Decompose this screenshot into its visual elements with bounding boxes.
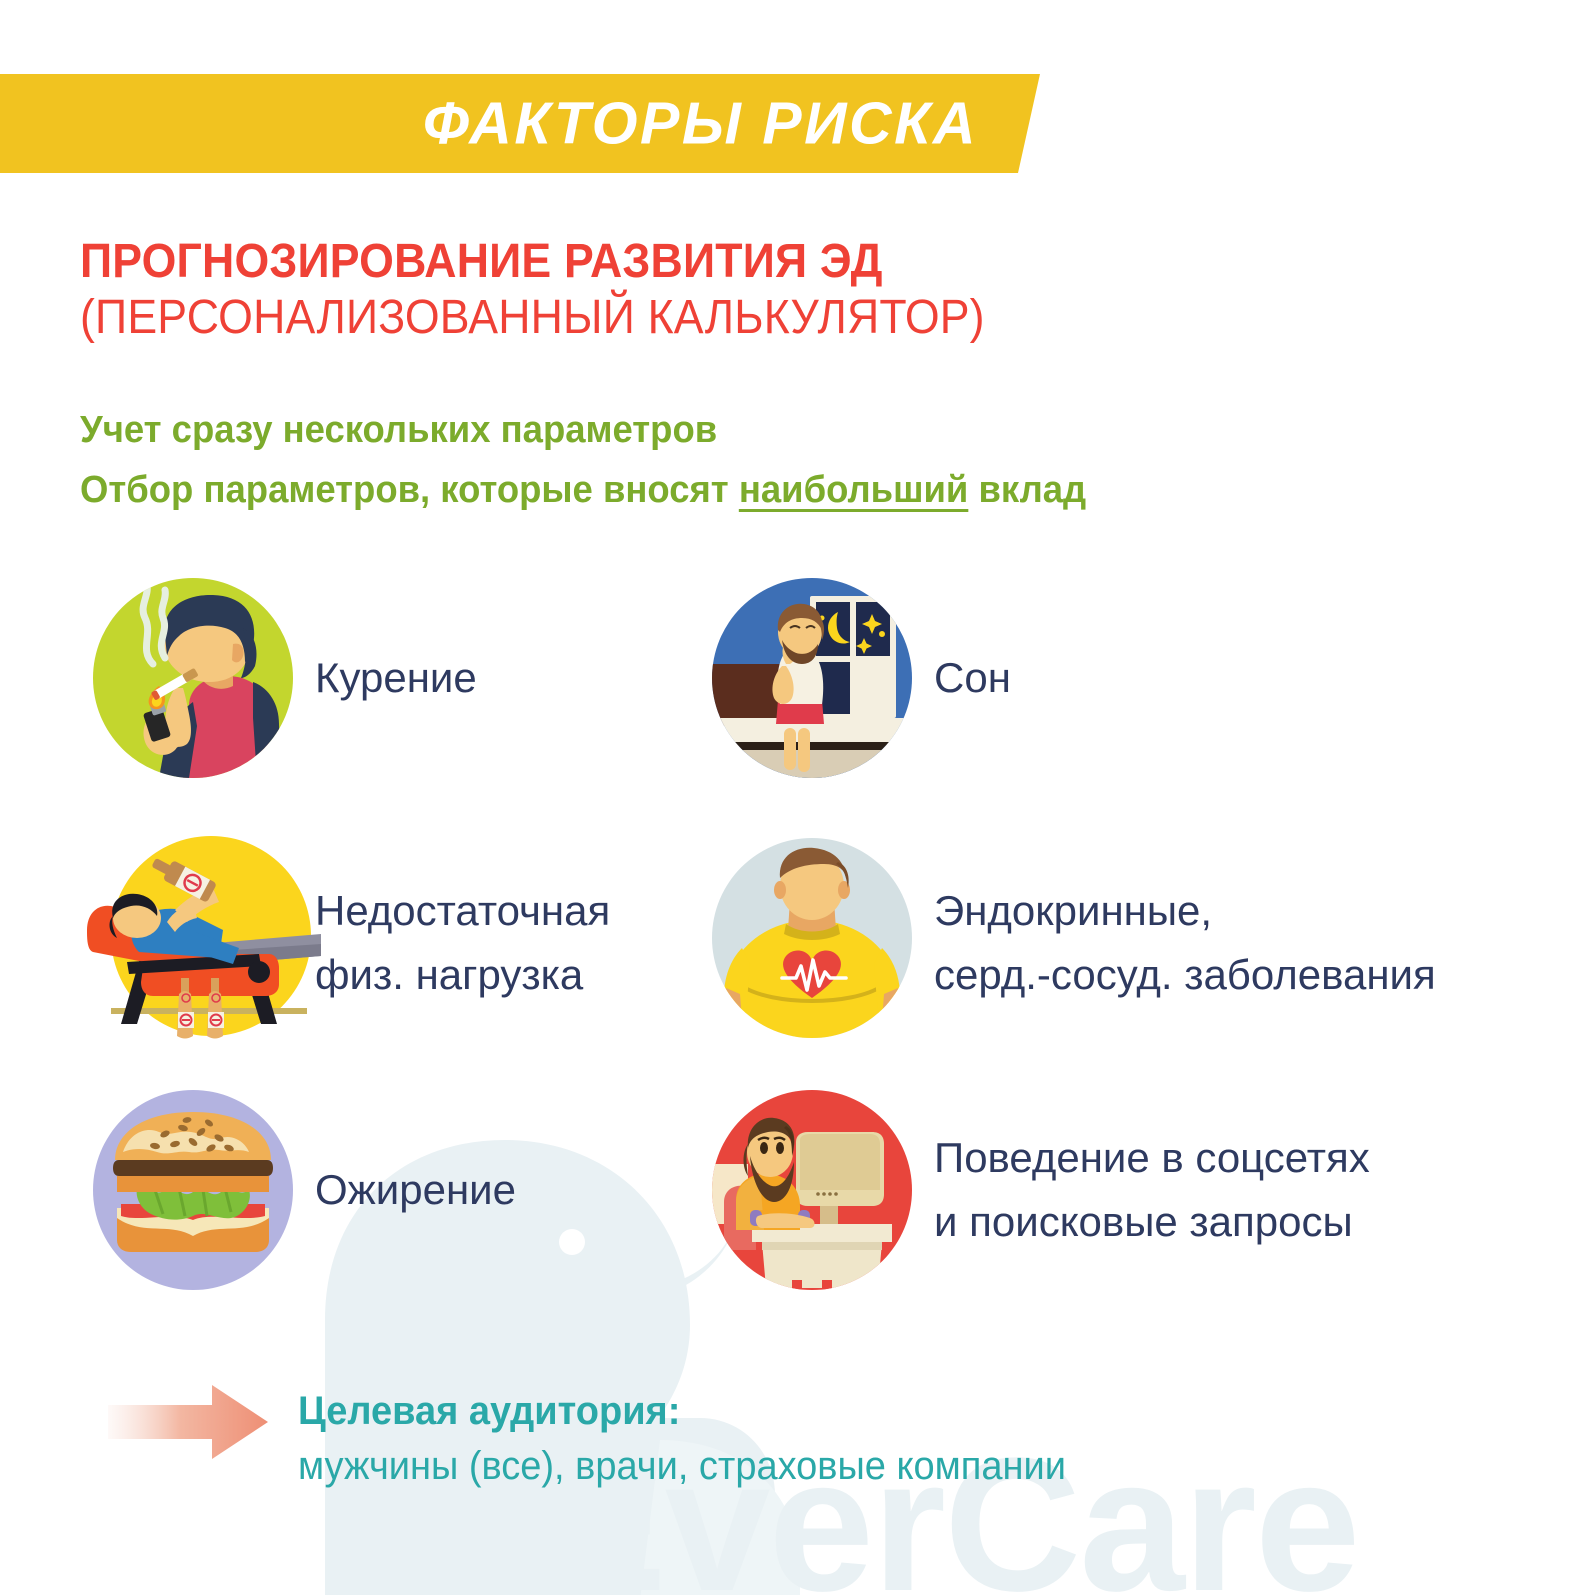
heading-primary: ПРОГНОЗИРОВАНИЕ РАЗВИТИЯ ЭД — [80, 235, 985, 289]
factor-endocrine-label-line1: Эндокринные, — [934, 879, 1436, 943]
factor-endocrine: Эндокринные, серд.-сосуд. заболевания — [712, 838, 1532, 1048]
target-audience-list: мужчины (все), врачи, страховые компании — [298, 1438, 1066, 1495]
factor-social-label-line2: и поисковые запросы — [934, 1190, 1370, 1254]
factor-social-label-line1: Поведение в соцсетях — [934, 1126, 1370, 1190]
subtitle-line-1: Учет сразу нескольких параметров — [80, 400, 1086, 460]
factor-inactivity-label: Недостаточная физ. нагрузка — [315, 879, 610, 1007]
burger-icon — [93, 1090, 293, 1290]
factor-inactivity-label-line2: физ. нагрузка — [315, 943, 610, 1007]
heart-ecg-man-icon — [712, 838, 912, 1038]
subtitle-block: Учет сразу нескольких параметров Отбор п… — [80, 400, 1128, 520]
factor-sleep-label: Сон — [934, 646, 1011, 710]
computer-user-icon — [712, 1090, 912, 1290]
factor-smoking: Курение — [93, 578, 793, 778]
factor-endocrine-label-line2: серд.-сосуд. заболевания — [934, 943, 1436, 1007]
factor-inactivity: Недостаточная физ. нагрузка — [93, 838, 793, 1048]
heading-secondary: (ПЕРСОНАЛИЗОВАННЫЙ КАЛЬКУЛЯТОР) — [80, 289, 985, 347]
header-banner: ФАКТОРЫ РИСКА — [0, 74, 1040, 173]
target-audience-block: Целевая аудитория: мужчины (все), врачи,… — [298, 1385, 1106, 1495]
factor-smoking-label: Курение — [315, 646, 477, 710]
infographic-slide: EverCare ФАКТОРЫ РИСКА ПРОГНОЗИРОВАНИЕ Р… — [0, 0, 1595, 1595]
factor-inactivity-label-line1: Недостаточная — [315, 879, 610, 943]
subtitle-line-2-post: вклад — [968, 469, 1086, 511]
factor-sleep-label-line1: Сон — [934, 646, 1011, 710]
recliner-beer-icon — [83, 826, 323, 1056]
subtitle-line-2: Отбор параметров, которые вносят наиболь… — [80, 460, 1086, 520]
page-title: ФАКТОРЫ РИСКА — [423, 94, 978, 153]
subtitle-line-2-pre: Отбор параметров, которые вносят — [80, 469, 739, 511]
subtitle-emphasis: наибольший — [739, 469, 969, 511]
factor-endocrine-label: Эндокринные, серд.-сосуд. заболевания — [934, 879, 1436, 1007]
factor-sleep: Сон — [712, 578, 1412, 778]
factor-social: Поведение в соцсетях и поисковые запросы — [712, 1090, 1532, 1290]
target-audience-title: Целевая аудитория: — [298, 1385, 1066, 1438]
factor-obesity: Ожирение — [93, 1090, 793, 1290]
heading-block: ПРОГНОЗИРОВАНИЕ РАЗВИТИЯ ЭД (ПЕРСОНАЛИЗО… — [80, 235, 1053, 346]
factor-obesity-label-line1: Ожирение — [315, 1158, 516, 1222]
factor-social-label: Поведение в соцсетях и поисковые запросы — [934, 1126, 1370, 1254]
arrow-right-icon — [108, 1383, 268, 1461]
factor-obesity-label: Ожирение — [315, 1158, 516, 1222]
smoking-icon — [93, 578, 293, 778]
factor-smoking-label-line1: Курение — [315, 646, 477, 710]
insomnia-icon — [712, 578, 912, 778]
